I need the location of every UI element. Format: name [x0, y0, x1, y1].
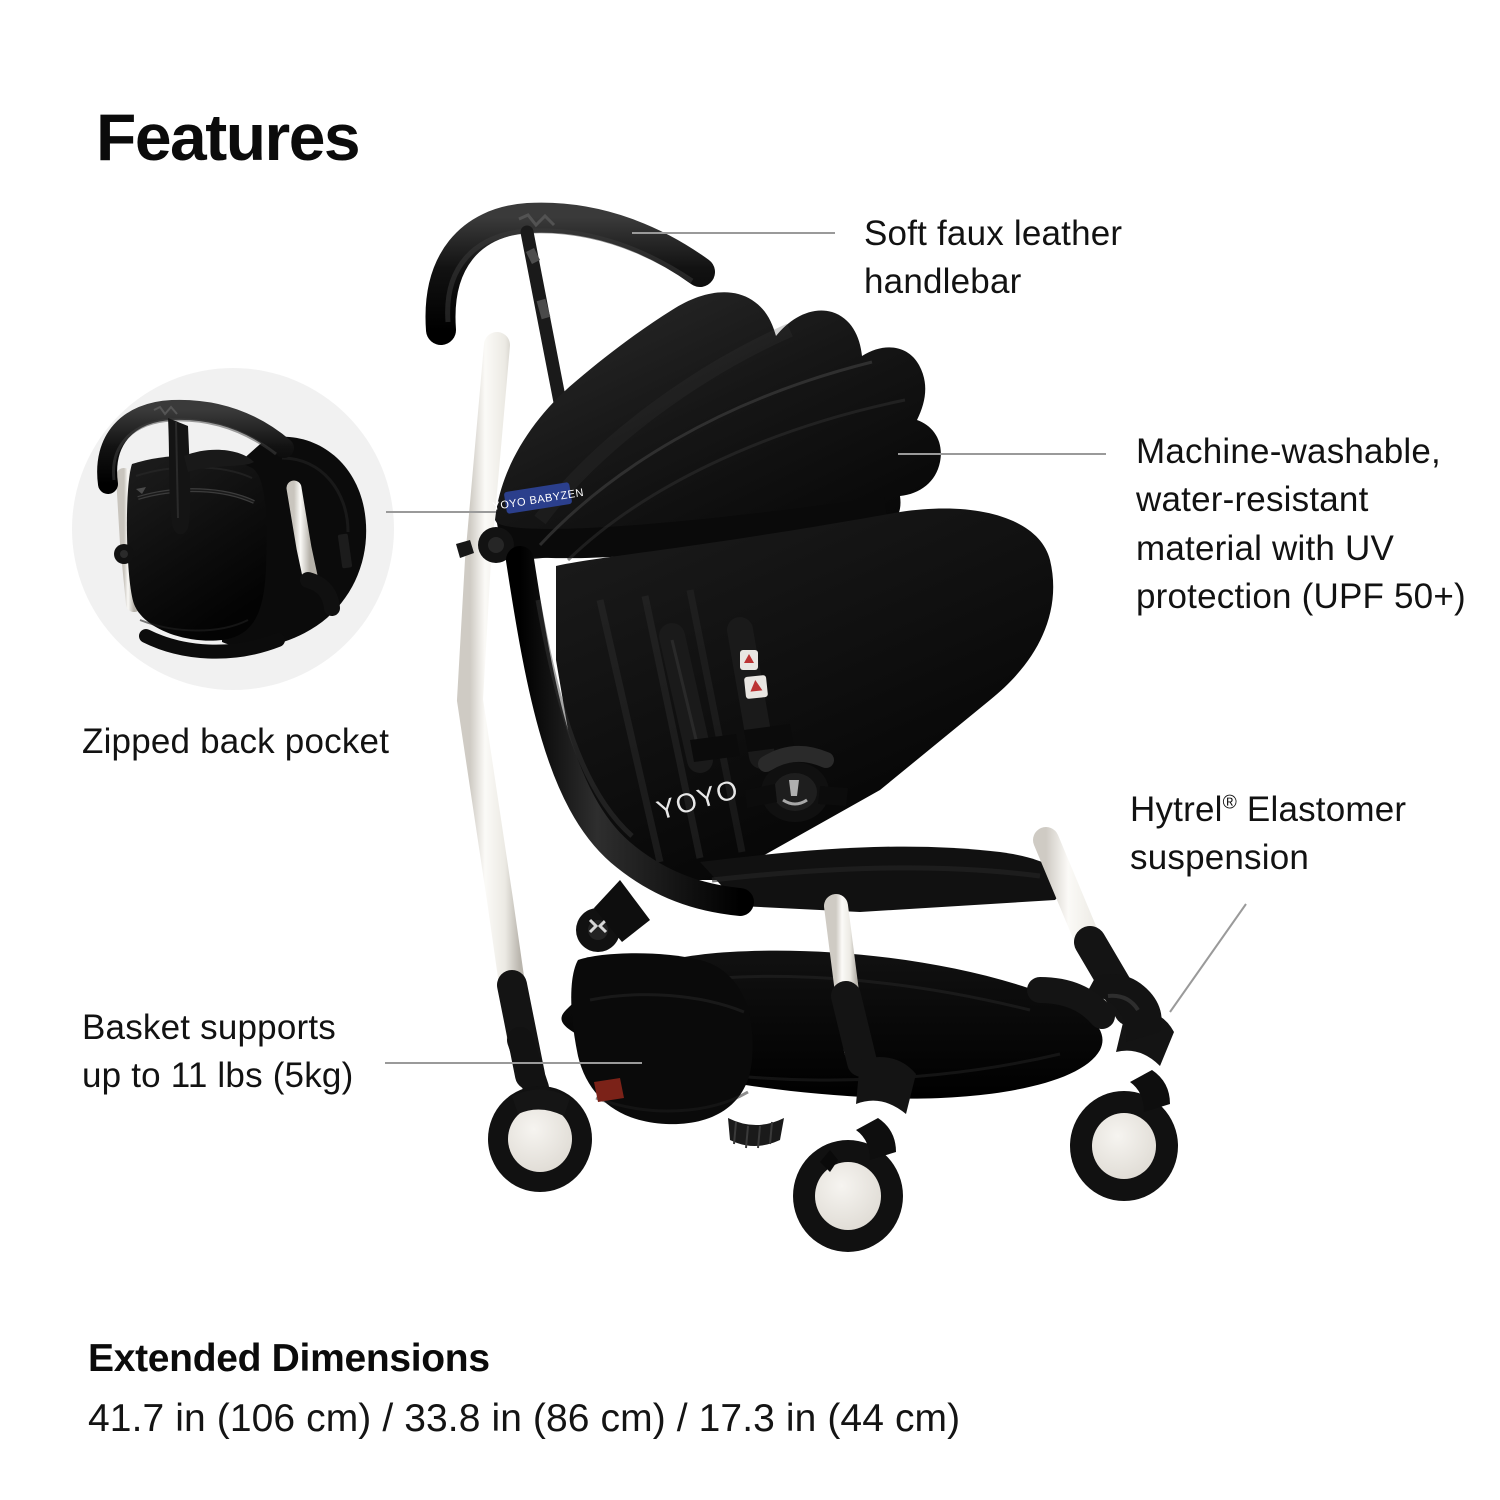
leader-line-fabric — [898, 453, 1106, 455]
annotation-line: Hytrel® Elastomer — [1130, 786, 1460, 834]
annotation-line: protection (UPF 50+) — [1136, 573, 1486, 621]
leader-line-pocket — [386, 511, 496, 513]
features-page: Features — [0, 0, 1500, 1500]
annotation-line: water-resistant — [1136, 476, 1486, 524]
annotation-line: Soft faux leather — [864, 210, 1194, 258]
extended-dimensions-heading: Extended Dimensions — [88, 1337, 490, 1381]
annotation-hytrel-elastomer-suspension: Hytrel® Elastomer suspension — [1130, 786, 1460, 883]
leader-line-basket — [385, 1062, 642, 1064]
annotation-line: up to 11 lbs (5kg) — [82, 1052, 412, 1100]
annotation-line: Zipped back pocket — [82, 718, 502, 766]
extended-dimensions-value: 41.7 in (106 cm) / 33.8 in (86 cm) / 17.… — [88, 1397, 960, 1441]
annotation-basket-capacity: Basket supports up to 11 lbs (5kg) — [82, 1004, 412, 1101]
leader-line-handlebar — [632, 232, 835, 234]
annotation-line: Basket supports — [82, 1004, 412, 1052]
zipped-back-pocket-closeup — [72, 368, 394, 690]
annotation-line: Machine-washable, — [1136, 428, 1486, 476]
registered-mark-icon: ® — [1223, 792, 1237, 813]
annotation-hytrel-text: Hytrel — [1130, 790, 1223, 829]
annotation-line: material with UV — [1136, 525, 1486, 573]
annotation-line: suspension — [1130, 834, 1460, 882]
annotation-elastomer-text: Elastomer — [1237, 790, 1406, 829]
leader-line-suspension — [1150, 890, 1270, 1030]
annotation-zipped-back-pocket: Zipped back pocket — [82, 718, 502, 766]
annotation-line: handlebar — [864, 258, 1194, 306]
annotation-machine-washable-material: Machine-washable, water-resistant materi… — [1136, 428, 1486, 621]
annotation-soft-faux-leather-handlebar: Soft faux leather handlebar — [864, 210, 1194, 307]
